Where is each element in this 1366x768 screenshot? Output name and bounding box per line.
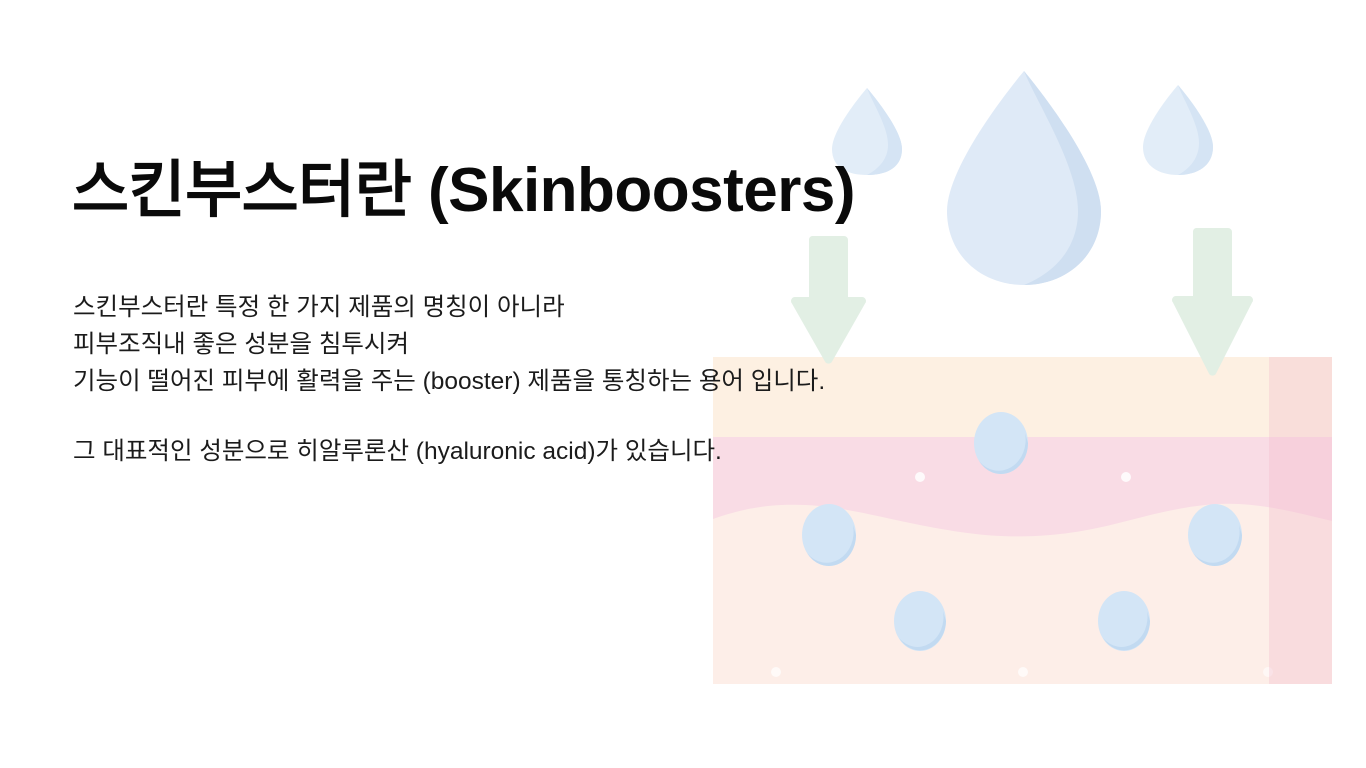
text-layer: 스킨부스터란 (Skinboosters) 스킨부스터란 특정 한 가지 제품의…: [0, 0, 1366, 768]
paragraph-spacer: [73, 400, 973, 433]
body-line-3: 기능이 떨어진 피부에 활력을 주는 (booster) 제품을 통칭하는 용어…: [73, 363, 973, 400]
body-line-1: 스킨부스터란 특정 한 가지 제품의 명칭이 아니라: [73, 289, 973, 326]
body-line-4: 그 대표적인 성분으로 히알루론산 (hyaluronic acid)가 있습니…: [73, 433, 973, 470]
body-line-2: 피부조직내 좋은 성분을 침투시켜: [73, 326, 973, 363]
page-title: 스킨부스터란 (Skinboosters): [72, 158, 855, 223]
body-text-block: 스킨부스터란 특정 한 가지 제품의 명칭이 아니라 피부조직내 좋은 성분을 …: [73, 289, 973, 470]
slide-canvas: 스킨부스터란 (Skinboosters) 스킨부스터란 특정 한 가지 제품의…: [0, 0, 1366, 768]
